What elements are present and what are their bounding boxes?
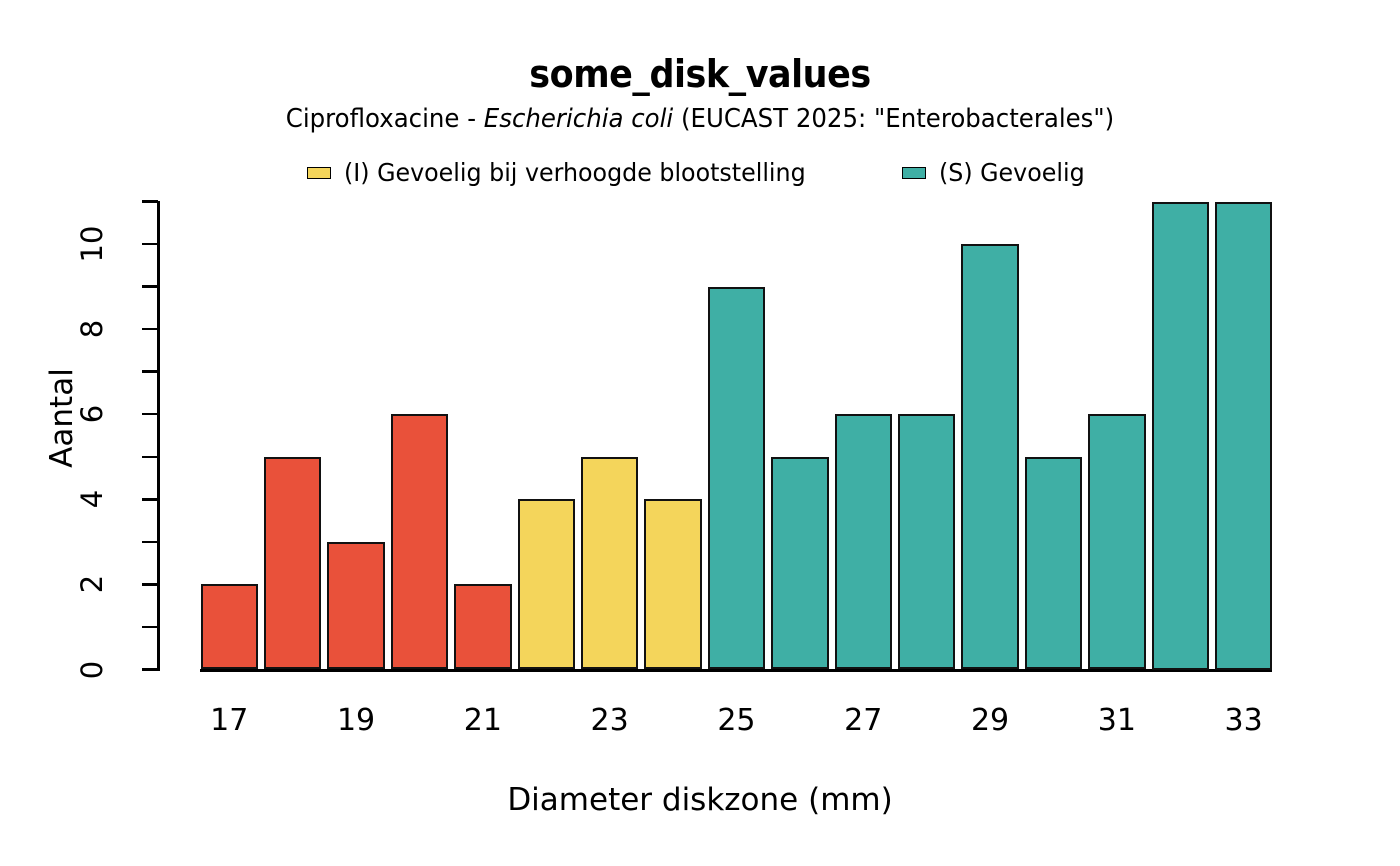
y-axis-tick-7	[142, 370, 158, 373]
bar-23[interactable]	[581, 457, 639, 670]
bar-29[interactable]	[961, 244, 1019, 669]
x-axis-tick-label-27: 27	[823, 703, 903, 738]
bar-21[interactable]	[454, 584, 512, 669]
bar-28[interactable]	[898, 414, 956, 669]
y-axis-tick-label-4: 4	[75, 464, 109, 534]
bar-25[interactable]	[708, 287, 766, 670]
y-axis-tick-0	[142, 668, 158, 671]
y-axis-tick-label-0: 0	[75, 635, 109, 705]
bar-26[interactable]	[771, 457, 829, 670]
y-axis-tick-3	[142, 541, 158, 544]
bar-24[interactable]	[644, 499, 702, 669]
bar-33[interactable]	[1215, 202, 1273, 670]
y-axis-tick-10	[142, 243, 158, 246]
x-axis-tick-label-29: 29	[950, 703, 1030, 738]
y-axis-tick-label-8: 8	[75, 294, 109, 364]
bar-31[interactable]	[1088, 414, 1146, 669]
x-axis-label: Diameter diskzone (mm)	[0, 782, 1400, 818]
y-axis-tick-label-2: 2	[75, 549, 109, 619]
bar-30[interactable]	[1025, 457, 1083, 670]
plot-area: Aantal Diameter diskzone (mm) 0246810 17…	[0, 0, 1400, 866]
y-axis-tick-4	[142, 498, 158, 501]
x-axis-tick-label-33: 33	[1204, 703, 1284, 738]
y-axis-tick-label-6: 6	[75, 379, 109, 449]
x-axis-tick-label-17: 17	[189, 703, 269, 738]
bar-18[interactable]	[264, 457, 322, 670]
y-axis-tick-label-10: 10	[75, 209, 109, 279]
y-axis-tick-11	[142, 200, 158, 203]
x-axis-tick-label-25: 25	[696, 703, 776, 738]
bar-17[interactable]	[201, 584, 259, 669]
y-axis-tick-6	[142, 413, 158, 416]
bar-19[interactable]	[327, 542, 385, 670]
x-axis-tick-label-23: 23	[570, 703, 650, 738]
x-axis-tick-label-21: 21	[443, 703, 523, 738]
x-axis-tick-label-19: 19	[316, 703, 396, 738]
bar-20[interactable]	[391, 414, 449, 669]
bar-32[interactable]	[1152, 202, 1210, 670]
y-axis-tick-1	[142, 626, 158, 629]
y-axis-line	[157, 201, 160, 671]
y-axis-tick-2	[142, 583, 158, 586]
y-axis-tick-8	[142, 328, 158, 331]
bar-22[interactable]	[518, 499, 576, 669]
y-axis-tick-5	[142, 456, 158, 459]
y-axis-tick-9	[142, 285, 158, 288]
x-axis-tick-label-31: 31	[1077, 703, 1157, 738]
bar-27[interactable]	[835, 414, 893, 669]
